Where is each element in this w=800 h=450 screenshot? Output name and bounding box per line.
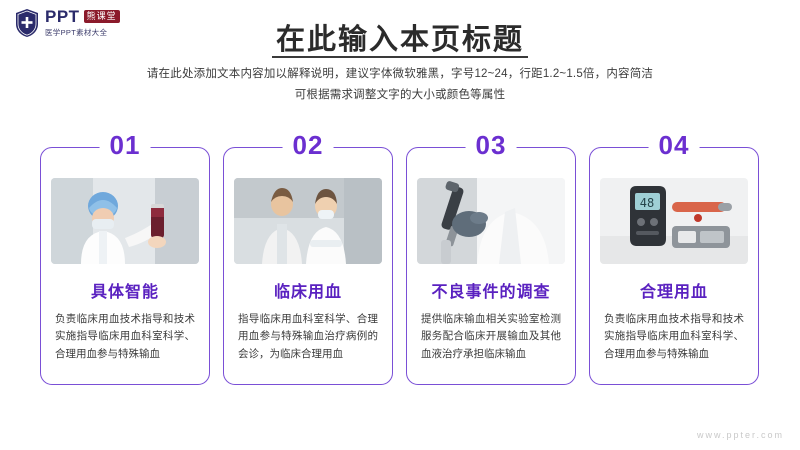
- card-number: 02: [283, 132, 334, 158]
- card-title: 临床用血: [234, 278, 382, 302]
- card-list: 01: [40, 147, 760, 385]
- card-body: 负责临床用血技术指导和技术实施指导临床用血科室科学、合理用血参与特殊输血: [51, 311, 199, 363]
- card-photo-4: 48: [600, 178, 748, 264]
- svg-text:48: 48: [640, 196, 654, 210]
- card-number: 04: [649, 132, 700, 158]
- card-photo-1: [51, 178, 199, 264]
- card-number: 03: [466, 132, 517, 158]
- card-photo-2: [234, 178, 382, 264]
- card-item[interactable]: 04 48: [589, 147, 759, 385]
- card-title: 合理用血: [600, 278, 748, 302]
- subtitle-line-2: 可根据需求调整文字的大小或颜色等属性: [0, 85, 800, 106]
- card-title: 具体智能: [51, 278, 199, 302]
- card-item[interactable]: 03: [406, 147, 576, 385]
- card-body: 指导临床用血科室科学、合理用血参与特殊输血治疗病例的会诊，为临床合理用血: [234, 311, 382, 363]
- card-body: 负责临床用血技术指导和技术实施指导临床用血科室科学、合理用血参与特殊输血: [600, 311, 748, 363]
- title-divider: [272, 56, 528, 58]
- page-subtitle: 请在此处添加文本内容加以解释说明，建议字体微软雅黑，字号12~24，行距1.2~…: [0, 64, 800, 107]
- card-photo-3: [417, 178, 565, 264]
- card-number: 01: [100, 132, 151, 158]
- card-body: 提供临床输血相关实验室检测服务配合临床开展输血及其他血液治疗承担临床输血: [417, 311, 565, 363]
- page-title: 在此输入本页标题: [0, 16, 800, 58]
- card-item[interactable]: 02: [223, 147, 393, 385]
- card-title: 不良事件的调查: [417, 278, 565, 302]
- watermark: www.ppter.com: [697, 430, 784, 440]
- card-item[interactable]: 01: [40, 147, 210, 385]
- slide-root: PPT 熊课堂 医学PPT素材大全 在此输入本页标题 请在此处添加文本内容加以解…: [0, 0, 800, 450]
- subtitle-line-1: 请在此处添加文本内容加以解释说明，建议字体微软雅黑，字号12~24，行距1.2~…: [0, 64, 800, 85]
